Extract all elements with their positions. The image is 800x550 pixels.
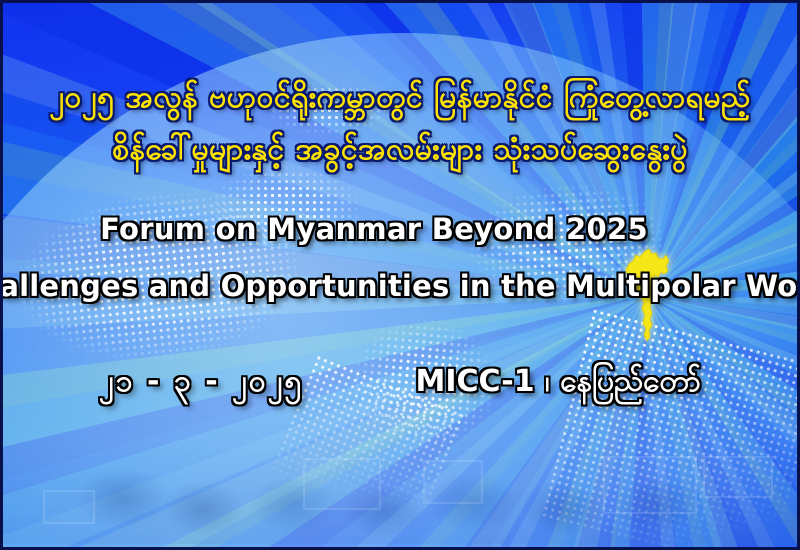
event-poster: ၂၀၂၅ အလွန် ဗဟုဝင်ရိုးကမ္ဘာတွင် မြန်မာနို… (0, 0, 800, 550)
english-title-line-1: Forum on Myanmar Beyond 2025 (100, 212, 700, 246)
poster-footer: ၂၁ - ၃ - ၂၀၂၅ MICC-1 ၊ နေပြည်တော် (3, 361, 797, 406)
poster-content: ၂၀၂၅ အလွန် ဗဟုဝင်ရိုးကမ္ဘာတွင် မြန်မာနို… (3, 3, 797, 547)
event-date: ၂၁ - ၃ - ၂၀၂၅ (99, 361, 303, 406)
burmese-title-line-1: ၂၀၂၅ အလွန် ဗဟုဝင်ရိုးကမ္ဘာတွင် မြန်မာနို… (49, 79, 750, 117)
burmese-title-line-2: စိန်ခေါ်မှုများနှင့် အခွင့်အလမ်းများ သုံ… (112, 131, 688, 169)
english-title-line-2: Challenges and Opportunities in the Mult… (0, 269, 800, 303)
event-venue: MICC-1 ၊ နေပြည်တော် (416, 361, 702, 406)
